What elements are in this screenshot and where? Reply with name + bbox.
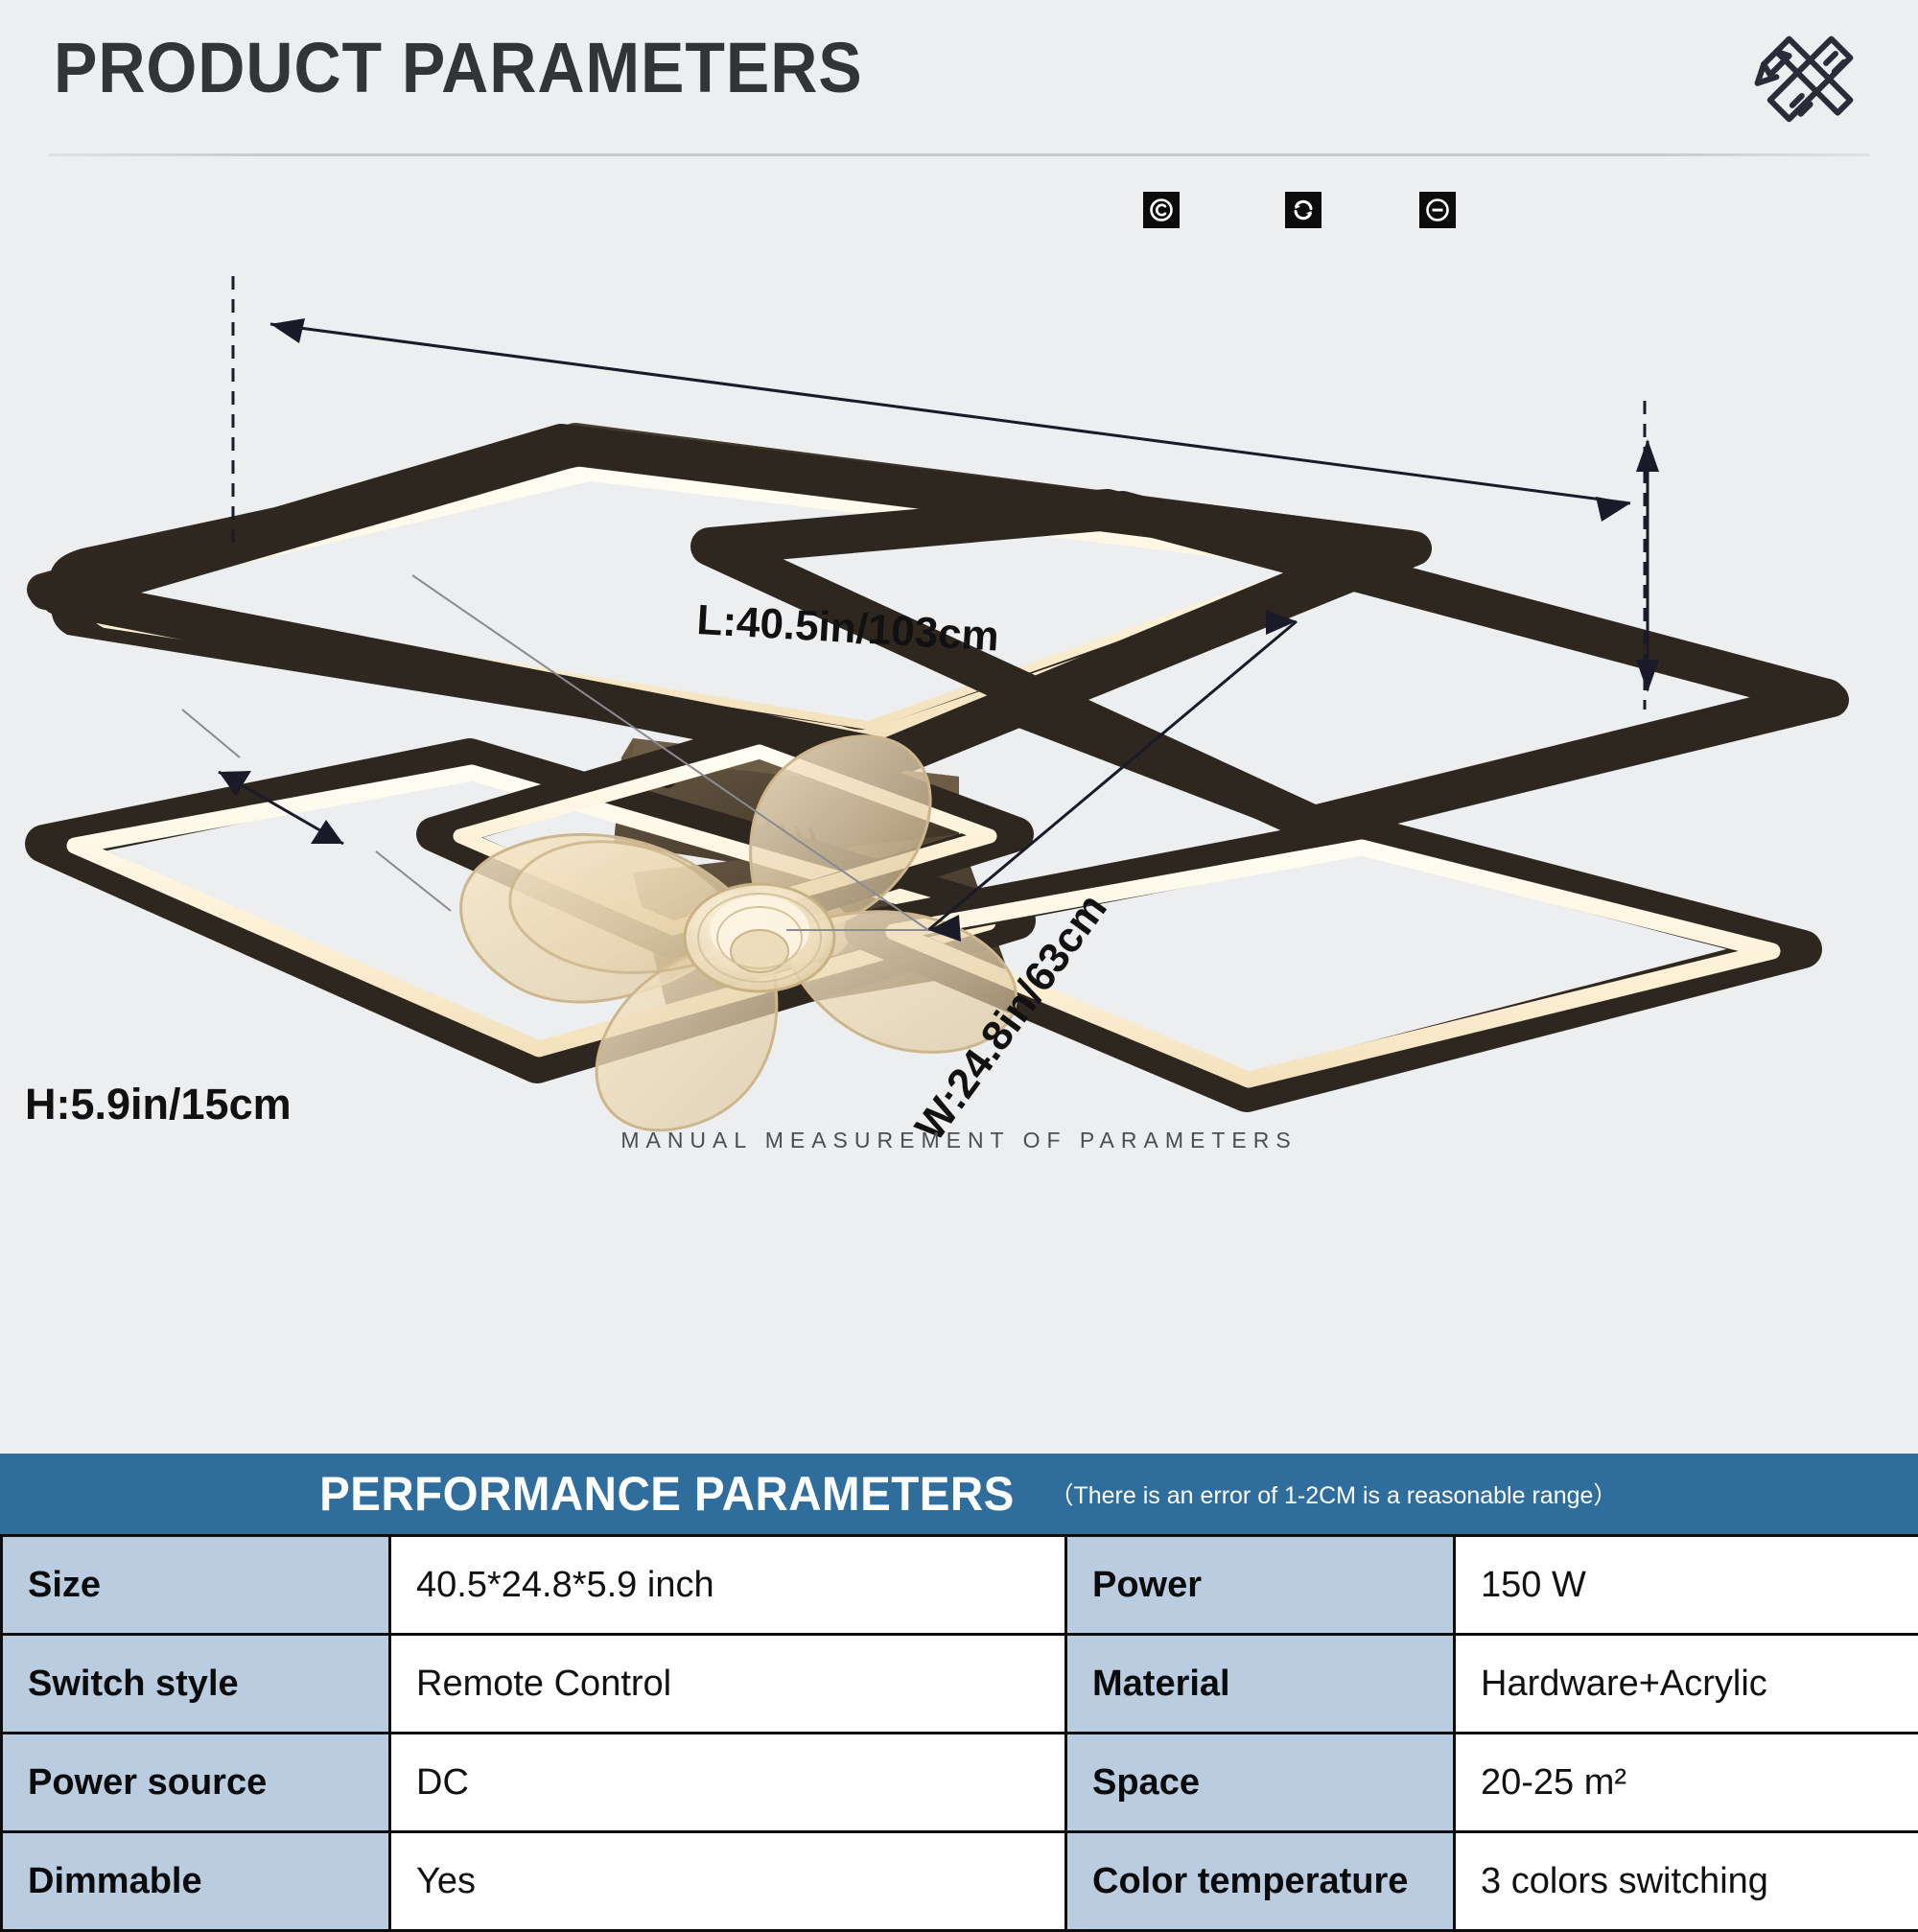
recycle-sync-badge-icon bbox=[1285, 192, 1322, 228]
height-dimension-label: H:5.9in/15cm bbox=[25, 1080, 292, 1129]
cell-value-material: Hardware+Acrylic bbox=[1455, 1635, 1918, 1734]
title-divider bbox=[48, 153, 1870, 156]
cell-label-material: Material bbox=[1066, 1635, 1455, 1734]
performance-table: Size 40.5*24.8*5.9 inch Power 150 W Swit… bbox=[0, 1534, 1918, 1932]
cell-label-power-source: Power source bbox=[2, 1734, 390, 1832]
cell-label-dimmable: Dimmable bbox=[2, 1832, 390, 1931]
page-title: PRODUCT PARAMETERS bbox=[54, 27, 863, 108]
cell-value-space: 20-25 m² bbox=[1455, 1734, 1918, 1832]
product-illustration bbox=[0, 259, 1918, 1390]
cell-value-power: 150 W bbox=[1455, 1536, 1918, 1635]
cell-value-color-temperature: 3 colors switching bbox=[1455, 1832, 1918, 1931]
cell-label-size: Size bbox=[2, 1536, 390, 1635]
cell-label-space: Space bbox=[1066, 1734, 1455, 1832]
cell-label-power: Power bbox=[1066, 1536, 1455, 1635]
performance-note: （There is an error of 1-2CM is a reasona… bbox=[1049, 1477, 1617, 1511]
fan-hub bbox=[685, 884, 834, 991]
cell-value-power-source: DC bbox=[390, 1734, 1066, 1832]
performance-header-bar: PERFORMANCE PARAMETERS （There is an erro… bbox=[0, 1454, 1918, 1534]
performance-title: PERFORMANCE PARAMETERS bbox=[319, 1466, 1015, 1522]
table-row: Size 40.5*24.8*5.9 inch Power 150 W bbox=[2, 1536, 1918, 1635]
manual-measurement-caption: MANUAL MEASUREMENT OF PARAMETERS bbox=[0, 1128, 1918, 1153]
cell-label-switch-style: Switch style bbox=[2, 1635, 390, 1734]
copyright-badge-icon bbox=[1143, 192, 1180, 228]
cell-value-dimmable: Yes bbox=[390, 1832, 1066, 1931]
infographic-root: PRODUCT PARAMETERS bbox=[0, 0, 1918, 1918]
table-row: Dimmable Yes Color temperature 3 colors … bbox=[2, 1832, 1918, 1931]
performance-parameters-section: PERFORMANCE PARAMETERS （There is an erro… bbox=[0, 1454, 1918, 1918]
table-row: Power source DC Space 20-25 m² bbox=[2, 1734, 1918, 1832]
circle-minus-badge-icon bbox=[1419, 192, 1456, 228]
product-diagram: L:40.5in/103cm H:5.9in/15cm W:24.8in/63c… bbox=[0, 259, 1918, 1390]
table-row: Switch style Remote Control Material Har… bbox=[2, 1635, 1918, 1734]
product-parameters-section: PRODUCT PARAMETERS bbox=[0, 0, 1918, 1454]
ruler-pencil-icon bbox=[1751, 33, 1857, 138]
certification-badge-row bbox=[1132, 192, 1860, 259]
cell-value-switch-style: Remote Control bbox=[390, 1635, 1066, 1734]
cell-label-color-temperature: Color temperature bbox=[1066, 1832, 1455, 1931]
cell-value-size: 40.5*24.8*5.9 inch bbox=[390, 1536, 1066, 1635]
